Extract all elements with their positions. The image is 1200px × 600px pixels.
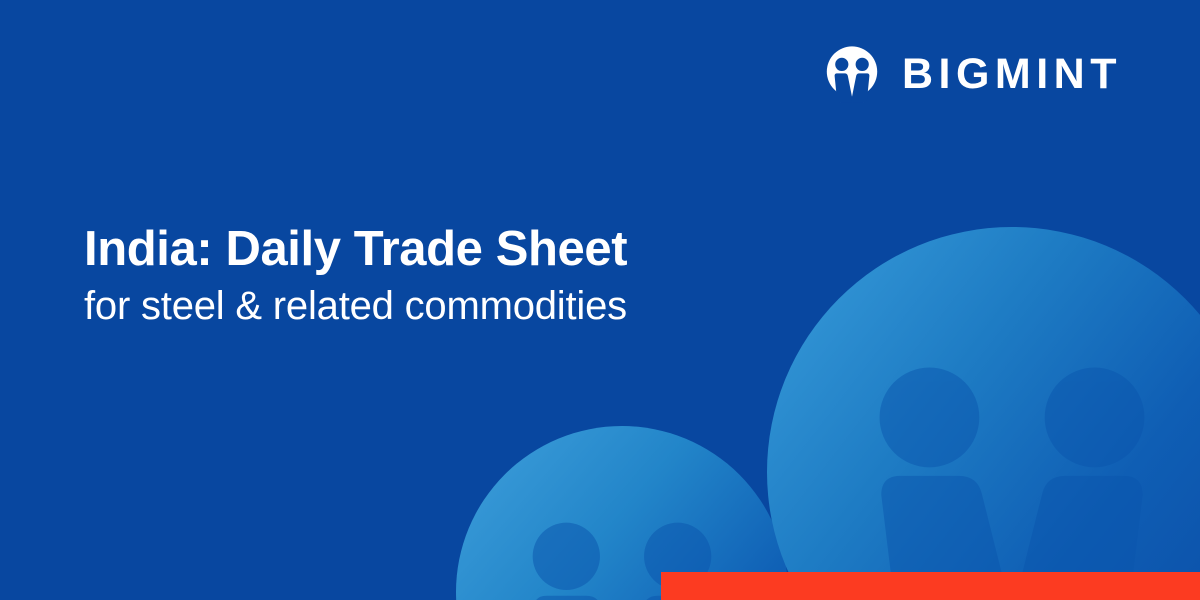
brand-wordmark: BIGMINT <box>902 53 1122 96</box>
red-accent-bar <box>661 572 1200 600</box>
brand-logo-lockup[interactable]: BIGMINT <box>822 44 1122 104</box>
decor-circle-large <box>767 227 1200 600</box>
page-subtitle: for steel & related commodities <box>84 283 784 329</box>
page-title: India: Daily Trade Sheet <box>84 222 784 277</box>
headline-block: India: Daily Trade Sheet for steel & rel… <box>84 222 784 329</box>
promo-banner: BIGMINT India: Daily Trade Sheet for ste… <box>0 0 1200 600</box>
bigmint-logo-icon <box>822 44 882 104</box>
